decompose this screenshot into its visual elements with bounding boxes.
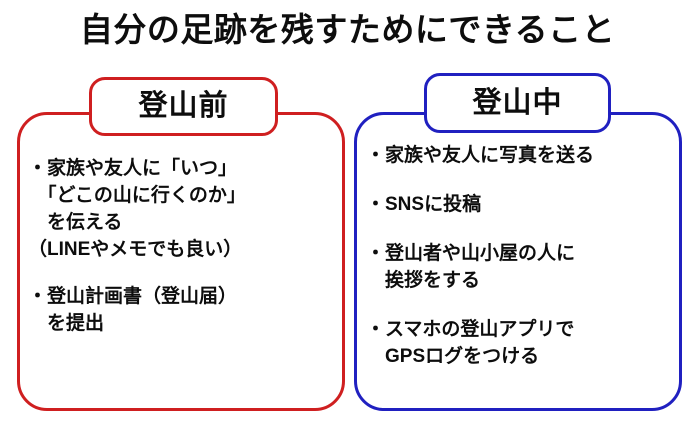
list-item: ・登山者や山小屋の人に 挨拶をする (366, 241, 678, 295)
page-title: 自分の足跡を残すためにできること (0, 12, 695, 49)
list-item: ・登山計画書（登山届） を提出 (28, 284, 340, 338)
panel-before-climb-header: 登山前 (89, 77, 278, 136)
list-item: ・家族や友人に「いつ」 「どこの山に行くのか」 を伝える （LINEやメモでも良… (28, 156, 340, 264)
panel-during-climb-header-label: 登山中 (472, 89, 562, 118)
panel-during-climb-body: ・家族や友人に写真を送る ・SNSに投稿 ・登山者や山小屋の人に 挨拶をする ・… (366, 143, 678, 371)
list-item: ・スマホの登山アプリで GPSログをつける (366, 317, 678, 371)
panel-before-climb-body: ・家族や友人に「いつ」 「どこの山に行くのか」 を伝える （LINEやメモでも良… (28, 156, 340, 338)
list-item: ・SNSに投稿 (366, 192, 678, 219)
panel-before-climb-header-label: 登山前 (138, 92, 228, 121)
list-item: ・家族や友人に写真を送る (366, 143, 678, 170)
panel-during-climb-header: 登山中 (424, 73, 611, 133)
infographic-canvas: 自分の足跡を残すためにできること ・家族や友人に「いつ」 「どこの山に行くのか」… (0, 0, 695, 427)
